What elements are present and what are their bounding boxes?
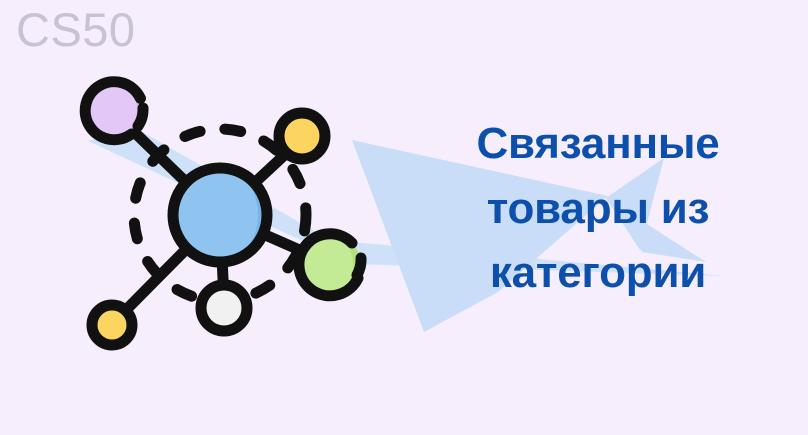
- node-gray: [201, 285, 247, 331]
- headline-line-2: товары из: [404, 177, 792, 242]
- headline-line-1: Связанные: [404, 112, 792, 177]
- node-center: [173, 168, 267, 262]
- node-green: [299, 234, 361, 296]
- brand-logo-text: CS50: [16, 6, 136, 53]
- node-purple: [85, 81, 144, 140]
- node-purple-outline-tip: [138, 108, 143, 126]
- node-yellow-top: [279, 113, 325, 159]
- banner-root: CS50: [0, 0, 808, 435]
- node-yellow-bottom-left: [92, 305, 132, 345]
- headline-text: Связанные товары из категории: [404, 112, 792, 306]
- node-green-outline-tip: [357, 258, 361, 275]
- headline-line-3: категории: [404, 241, 792, 306]
- related-products-network-icon: [70, 70, 370, 360]
